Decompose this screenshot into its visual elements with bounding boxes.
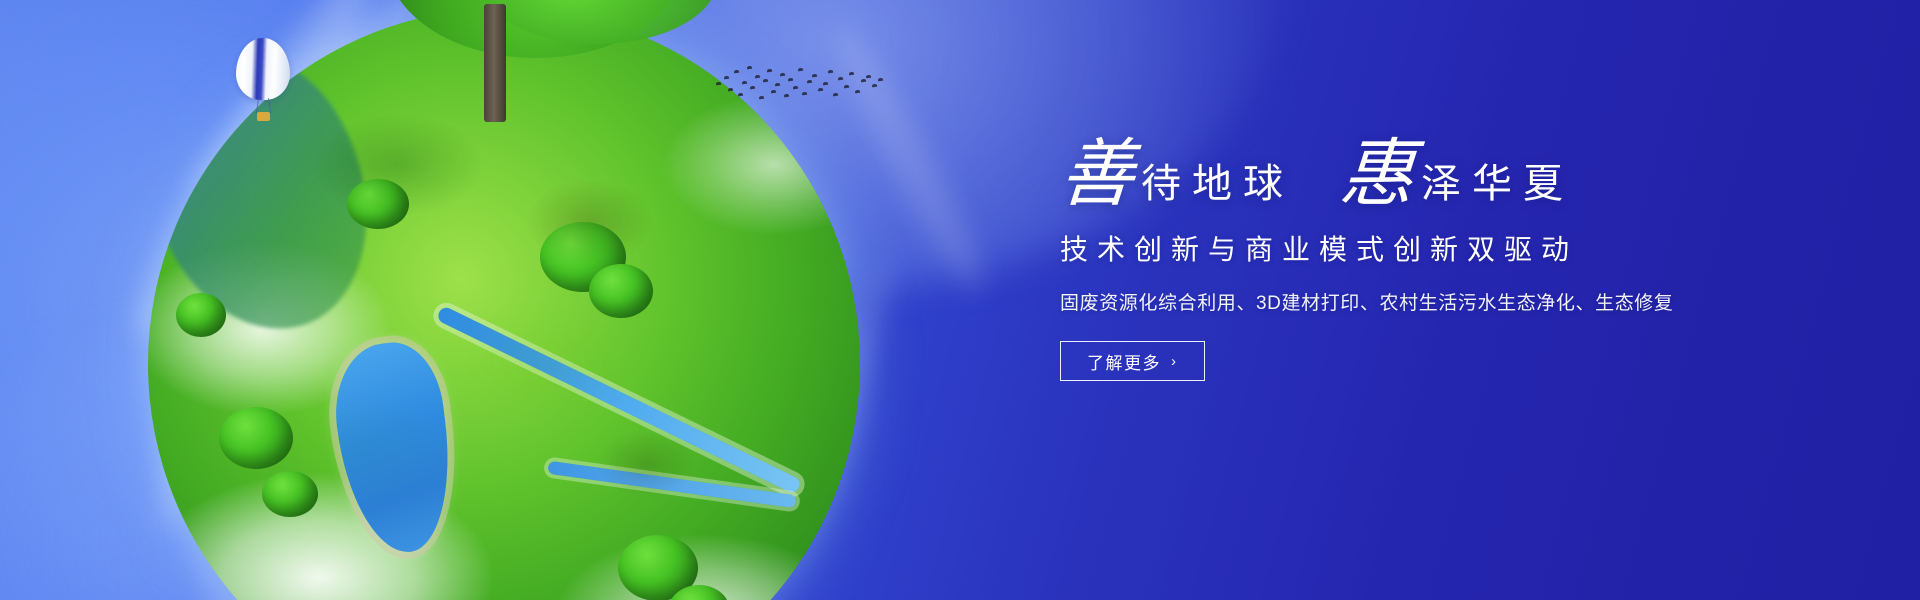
bird-icon [818, 88, 823, 92]
bird-icon [724, 76, 729, 80]
bird-icon [767, 69, 772, 73]
tree [668, 585, 730, 600]
foreground-tree-canopy [386, 0, 686, 58]
sky-glow-left [0, 0, 830, 600]
hero-content: 善 待地球 惠 泽华夏 技术创新与商业模式创新双驱动 固废资源化综合利用、3D建… [1060, 140, 1660, 381]
bird-icon [833, 93, 838, 97]
tree [589, 264, 653, 318]
bird-icon [807, 80, 812, 84]
hero-banner: 善 待地球 惠 泽华夏 技术创新与商业模式创新双驱动 固废资源化综合利用、3D建… [0, 0, 1920, 600]
hero-subtitle: 技术创新与商业模式创新双驱动 [1060, 228, 1660, 268]
tree [219, 407, 293, 469]
tree [618, 535, 698, 600]
bird-icon [838, 77, 843, 81]
bird-icon [716, 82, 721, 86]
balloon-rope [268, 98, 271, 113]
bird-icon [788, 78, 793, 82]
bird-icon [750, 86, 755, 90]
learn-more-label: 了解更多 [1087, 349, 1161, 374]
bird-icon [828, 70, 833, 74]
bird-icon [861, 79, 866, 83]
bird-icon [866, 75, 871, 79]
bird-icon [793, 86, 798, 90]
headline-char-hui: 惠 [1338, 140, 1424, 210]
learn-more-button[interactable]: 了解更多 › [1060, 341, 1205, 381]
sky-glow-bottom-left [0, 330, 600, 600]
bird-icon [855, 90, 860, 94]
hot-air-balloon [236, 38, 298, 130]
bird-icon [878, 78, 883, 82]
bird-icon [849, 72, 854, 76]
river [435, 306, 802, 496]
hero-description: 固废资源化综合利用、3D建材打印、农村生活污水生态净化、生态修复 [1060, 288, 1660, 315]
bird-icon [738, 93, 743, 97]
bird-icon [812, 74, 817, 78]
headline-text-daidiqiu: 待地球 [1141, 165, 1294, 210]
balloon-rope [256, 98, 259, 113]
balloon-envelope [236, 38, 290, 100]
cloud-streak [146, 172, 254, 535]
headline-char-shan: 善 [1058, 140, 1144, 210]
bird-icon [742, 81, 747, 85]
balloon-basket [257, 112, 270, 121]
bird-icon [759, 96, 764, 100]
bird-icon [784, 94, 789, 98]
bird-icon [844, 85, 849, 89]
bird-icon [798, 68, 803, 72]
bird-icon [823, 82, 828, 86]
headline-text-zehuaxia: 泽华夏 [1421, 165, 1574, 210]
tree [347, 179, 409, 229]
tree [176, 293, 226, 337]
bird-flock [714, 48, 884, 106]
bird-icon [763, 79, 768, 83]
bird-icon [775, 83, 780, 87]
cloud-streak [125, 298, 295, 600]
foreground-tree-trunk [484, 4, 506, 122]
chevron-right-icon: › [1171, 354, 1178, 369]
cloud-streak [325, 286, 426, 600]
cloud-streak [180, 0, 459, 209]
bird-icon [734, 70, 739, 74]
bird-icon [728, 88, 733, 92]
bird-icon [780, 73, 785, 77]
bird-icon [755, 75, 760, 79]
cloud-streak [303, 0, 597, 94]
tree [262, 471, 318, 517]
foreground-tree-canopy [478, 0, 718, 44]
tree [540, 222, 626, 292]
bird-icon [747, 66, 752, 70]
bird-icon [802, 92, 807, 96]
cloud-streak [779, 260, 902, 538]
page-title: 善 待地球 惠 泽华夏 [1060, 140, 1660, 210]
lake [328, 337, 461, 559]
bird-icon [771, 90, 776, 94]
bird-icon [872, 84, 877, 88]
river [547, 461, 796, 509]
